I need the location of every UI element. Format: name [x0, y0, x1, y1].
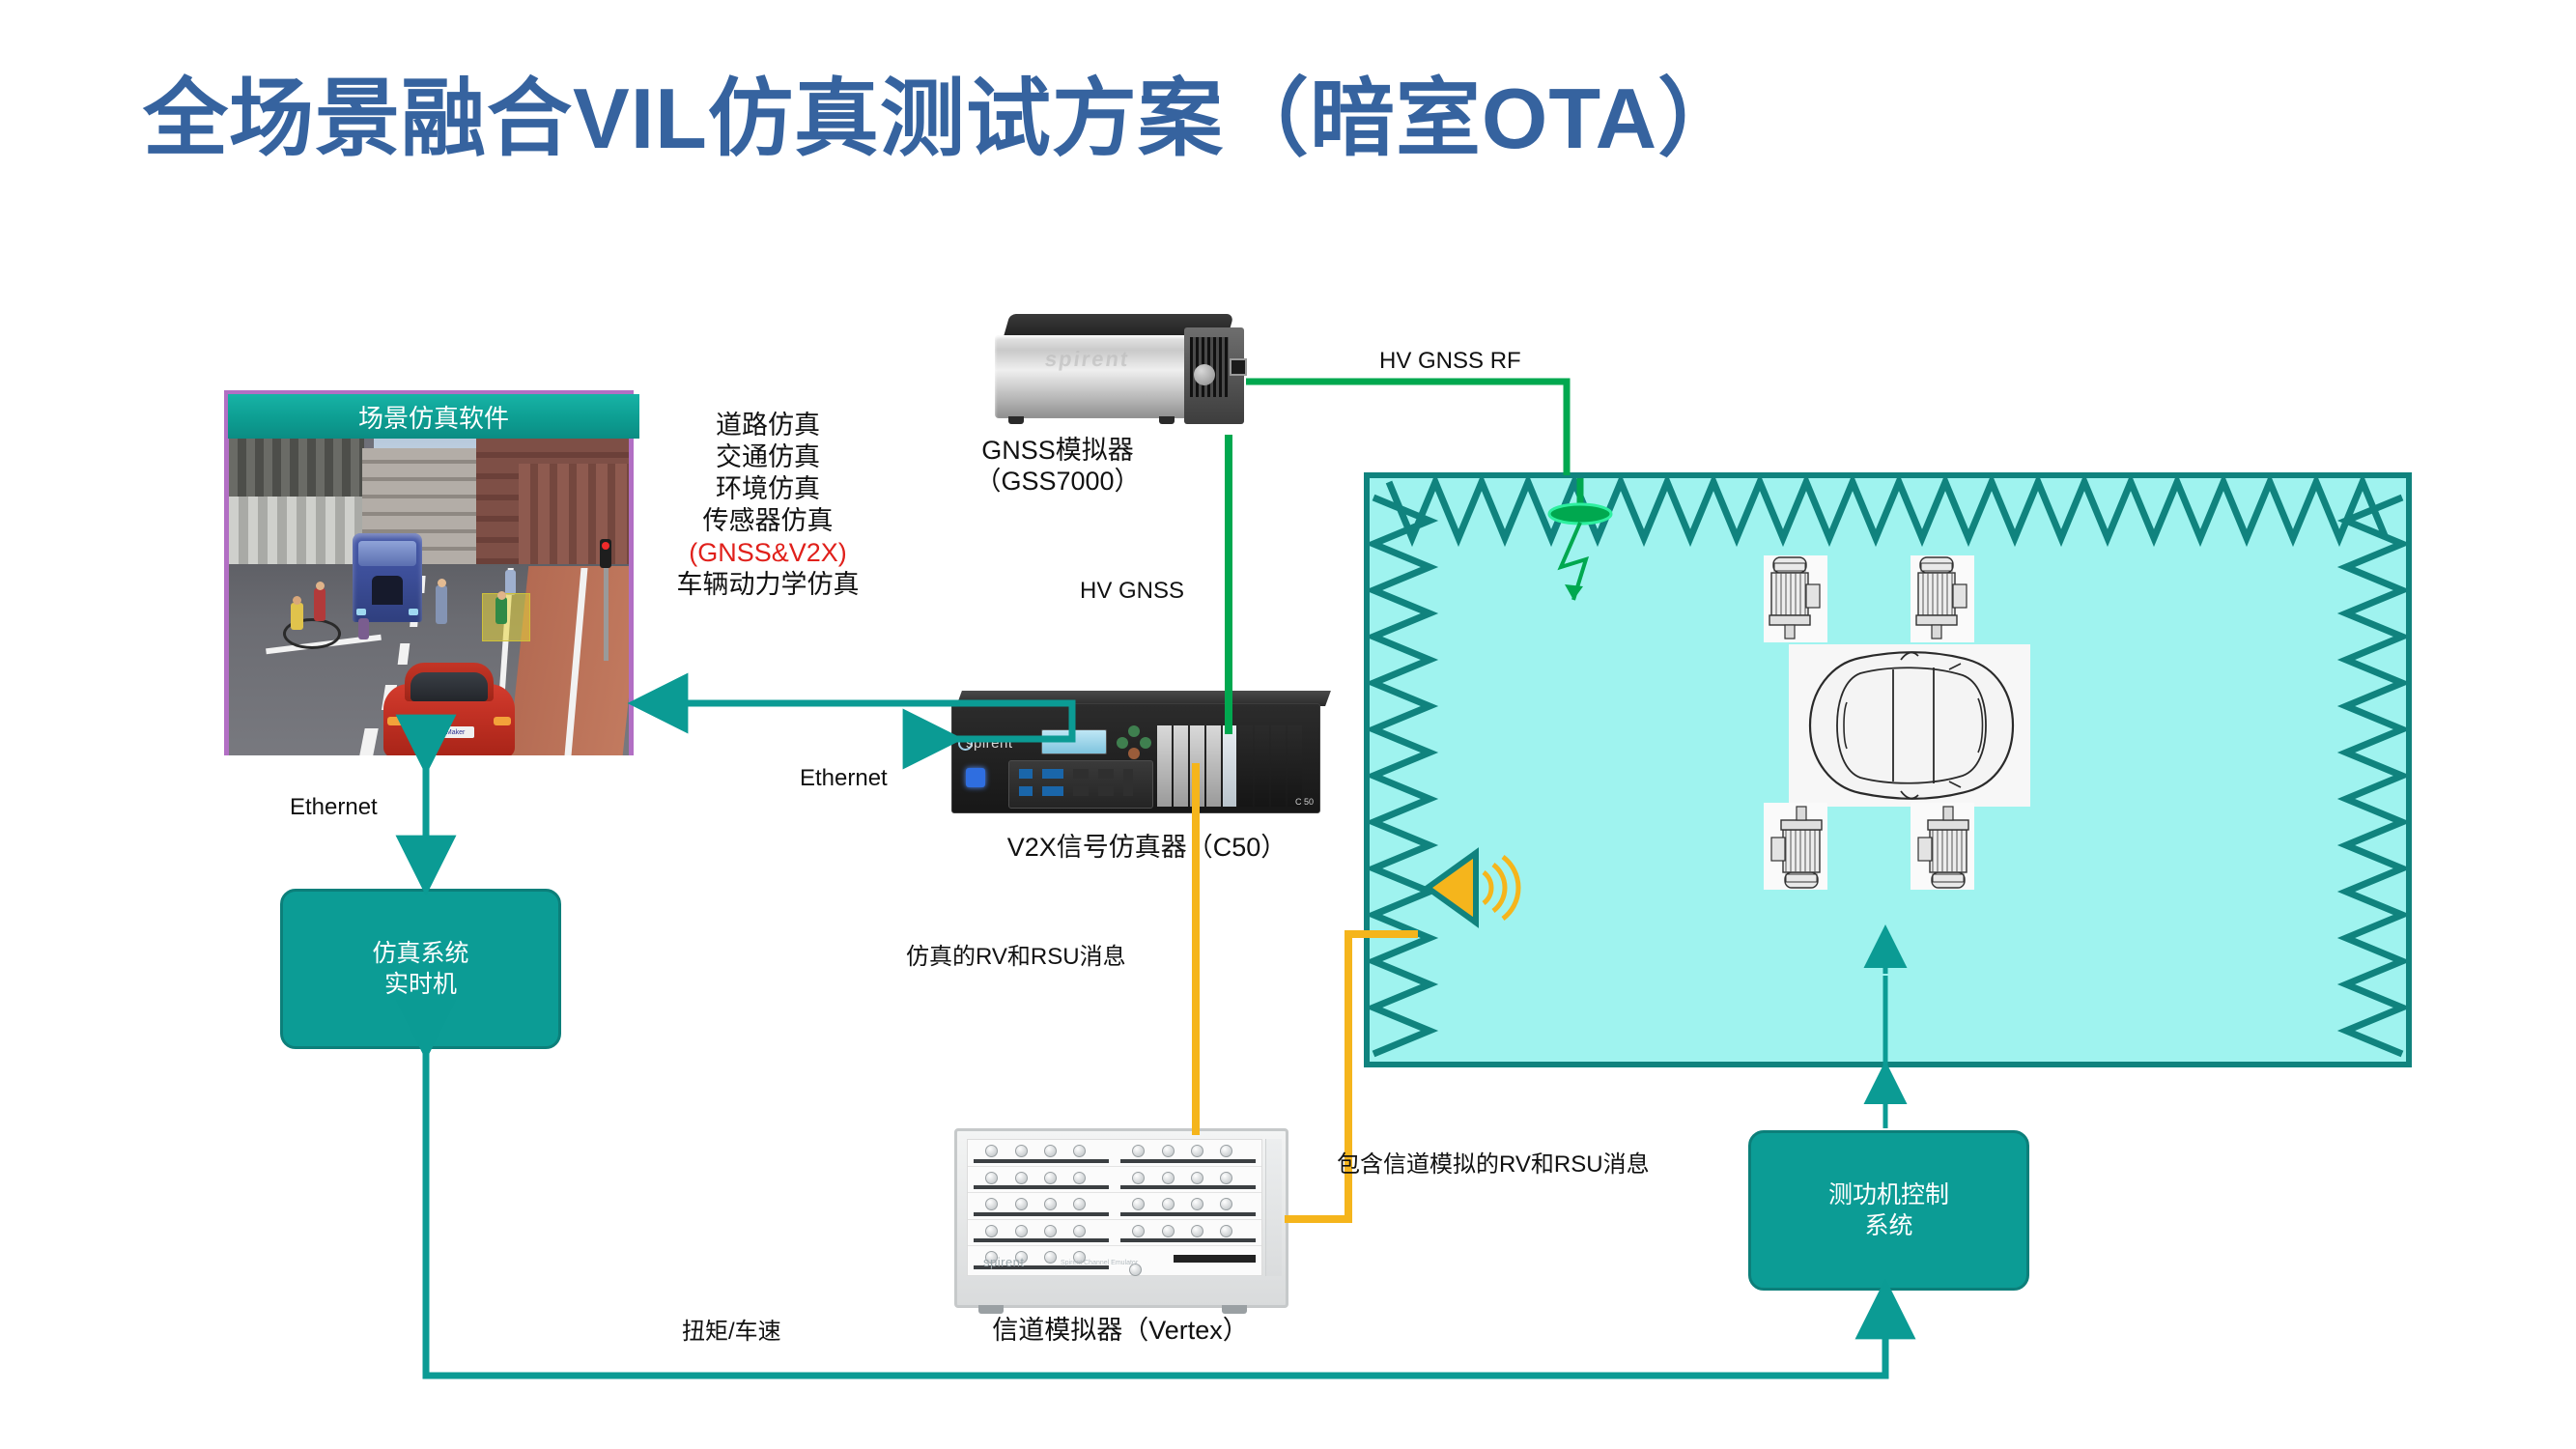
vertex-side-panel	[1265, 1139, 1282, 1276]
vertex-module-row	[968, 1167, 1261, 1194]
sim-item-road: 道路仿真	[676, 410, 860, 441]
scene-pedestrian	[314, 588, 326, 621]
realtime-box-line1: 仿真系统	[372, 938, 468, 970]
vertex-brand-label: spirent	[983, 1255, 1025, 1269]
gnss-rf-output-port	[1230, 358, 1247, 376]
label-torque-speed: 扭矩/车速	[682, 1312, 781, 1346]
ego-taillight	[494, 717, 511, 725]
ego-license-plate: CarMaker	[426, 726, 474, 738]
c50-model-tag: C 50	[1295, 797, 1314, 807]
label-hv-gnss-rf: HV GNSS RF	[1379, 348, 1521, 375]
scene-pedestrian-head	[438, 579, 446, 587]
label-rv-rsu-channel: 包含信道模拟的RV和RSU消息	[1337, 1145, 1650, 1179]
scene-bus-grill	[372, 576, 403, 605]
gnss-simulator-device-image: spirent	[995, 314, 1251, 435]
scene-ego-vehicle: CarMaker	[383, 663, 515, 755]
c50-io-panel	[1008, 760, 1153, 809]
dyno-roller	[1764, 803, 1827, 890]
label-hv-gnss: HV GNSS	[1080, 578, 1184, 605]
anechoic-chamber	[1364, 472, 2412, 1067]
gnss-overhead-antenna	[1542, 478, 1657, 662]
c50-brand-label: spirent	[966, 735, 1013, 752]
sim-item-gnss-v2x: (GNSS&V2X)	[676, 537, 860, 569]
scene-bus	[353, 533, 422, 622]
vehicle-under-test	[1789, 644, 2030, 807]
spirent-logo: spirent	[1043, 347, 1131, 372]
scene-traffic-light-pole	[604, 568, 609, 661]
scene-pedestrian-head	[316, 582, 325, 590]
gnss-device-foot	[1008, 416, 1024, 424]
dyno-roller	[1911, 555, 1974, 642]
ego-rear-window	[410, 672, 488, 701]
scene-pedestrian	[505, 570, 516, 595]
v2x-simulator-device-image: spirent C 50	[951, 691, 1333, 814]
c50-dpad-icon	[1117, 725, 1151, 758]
scenario-simulation-panel: 场景仿真软件	[224, 390, 634, 755]
sim-item-traffic: 交通仿真	[676, 441, 860, 473]
vertex-module-row	[968, 1220, 1261, 1247]
channel-emulator-label: 信道模拟器（Vertex）	[898, 1309, 1343, 1347]
realtime-box-line2: 实时机	[372, 969, 468, 1001]
scene-bus-light	[409, 609, 418, 615]
gnss-simulator-label: GNSS模拟器 （GSS7000）	[918, 435, 1198, 497]
scene-building-right-2	[519, 464, 629, 580]
scene-bus-light	[356, 609, 366, 615]
dyno-box-line1: 测功机控制	[1828, 1179, 1949, 1211]
dyno-roller	[1764, 555, 1827, 642]
label-ethernet-right: Ethernet	[800, 765, 888, 792]
gnss-device-knob	[1194, 364, 1215, 385]
dyno-roller	[1911, 803, 1974, 890]
scene-detected-cyclist-head	[497, 591, 506, 600]
vertex-front-panel: spirent Spirent Channel Emulator	[967, 1139, 1262, 1276]
v2x-horn-antenna	[1420, 847, 1545, 928]
simulation-capability-list: 道路仿真 交通仿真 环境仿真 传感器仿真 (GNSS&V2X) 车辆动力学仿真	[676, 410, 860, 601]
dynamometer-control-system-box[interactable]: 测功机控制 系统	[1748, 1130, 2029, 1291]
scene-pedestrian	[436, 585, 447, 624]
channel-emulator-device-image: spirent Spirent Channel Emulator	[954, 1128, 1288, 1308]
scene-detected-cyclist	[495, 597, 507, 624]
vertex-module-row	[968, 1140, 1261, 1167]
scenario-preview-image: CarMaker	[229, 439, 629, 755]
scenario-panel-header: 场景仿真软件	[228, 394, 639, 439]
scene-pedestrian	[358, 618, 369, 639]
label-ethernet-left: Ethernet	[290, 794, 378, 821]
dyno-box-line2: 系统	[1828, 1210, 1949, 1242]
vertex-module-row	[968, 1193, 1261, 1220]
sim-item-vehicle-dynamics: 车辆动力学仿真	[676, 569, 860, 601]
sim-item-sensor: 传感器仿真	[676, 505, 860, 537]
c50-card-slots	[1157, 725, 1302, 807]
scene-cyclist	[291, 603, 303, 630]
gnss-device-foot	[1159, 416, 1175, 424]
c50-power-button[interactable]	[966, 768, 985, 787]
vertex-brand-sub: Spirent Channel Emulator	[1061, 1260, 1138, 1266]
sim-item-environment: 环境仿真	[676, 473, 860, 505]
gnss-simulator-name: GNSS模拟器	[918, 435, 1198, 466]
v2x-simulator-label: V2X信号仿真器（C50）	[956, 826, 1338, 864]
label-rv-rsu-simulated: 仿真的RV和RSU消息	[906, 937, 1126, 971]
scene-building-left-top	[229, 439, 364, 497]
scene-cyclist-head	[293, 596, 301, 605]
c50-lcd-display	[1041, 729, 1107, 754]
gnss-simulator-model: （GSS7000）	[918, 466, 1198, 497]
scene-traffic-light-red	[602, 542, 609, 550]
ego-taillight	[387, 717, 405, 725]
c50-body: spirent C 50	[951, 703, 1320, 813]
page-title: 全场景融合VIL仿真测试方案（暗室OTA）	[143, 50, 1743, 173]
scene-bus-windshield	[358, 541, 416, 566]
connector-hv-gnss-rf	[1246, 382, 1567, 475]
realtime-simulation-machine-box[interactable]: 仿真系统 实时机	[280, 889, 561, 1049]
